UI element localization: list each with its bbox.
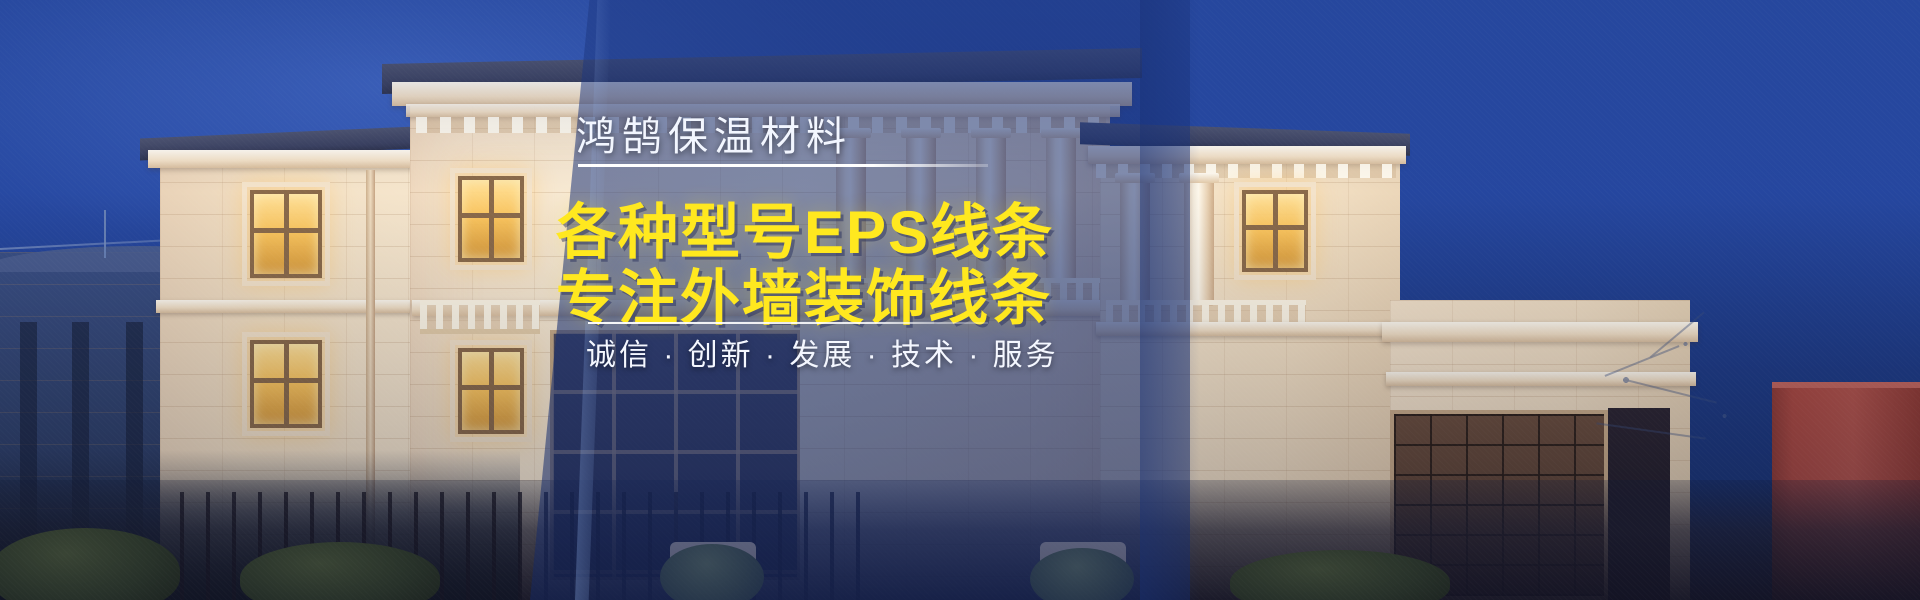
tagline: 诚信 · 创新 · 发展 · 技术 · 服务 (586, 330, 1059, 374)
window-frame (242, 182, 330, 286)
twig (1623, 378, 1717, 403)
twig (1596, 422, 1705, 439)
divider-above-tagline (588, 322, 988, 324)
cornice (156, 300, 428, 313)
cornice (148, 150, 436, 168)
antenna (104, 210, 106, 258)
window-frame (242, 332, 330, 436)
divider-above-headline (578, 164, 988, 167)
twig (1605, 345, 1680, 377)
brand-name: 鸿鹄保温材料 (576, 104, 852, 162)
banner-text-block: 鸿鹄保温材料 各种型号EPS线条 专注外墙装饰线条 诚信 · 创新 · 发展 ·… (556, 0, 1196, 600)
window-frame (450, 168, 532, 270)
red-wall-cap (1772, 382, 1920, 388)
balustrade (420, 300, 540, 334)
window-frame (450, 340, 532, 442)
promo-banner: 鸿鹄保温材料 各种型号EPS线条 专注外墙装饰线条 诚信 · 创新 · 发展 ·… (0, 0, 1920, 600)
window-frame (1234, 182, 1316, 280)
